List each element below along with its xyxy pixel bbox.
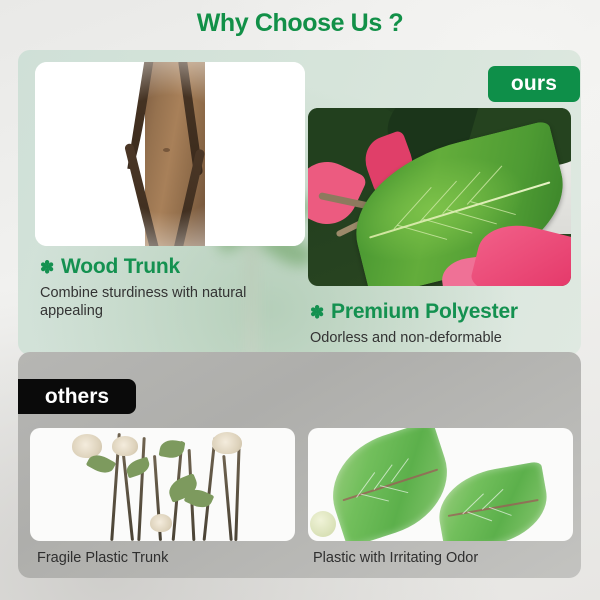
vine-strand (124, 143, 163, 246)
ours-badge: ours (488, 66, 580, 102)
ours-badge-label: ours (511, 72, 557, 96)
trunk-shape (145, 62, 205, 246)
others-caption-left: Fragile Plastic Trunk (37, 550, 168, 566)
feature-description: Odorless and non-deformable (310, 329, 580, 347)
vine-strand (178, 62, 203, 176)
flower-bullet-icon: ✽ (40, 259, 54, 276)
premium-leaf-image-card (308, 108, 571, 286)
others-caption-right: Plastic with Irritating Odor (313, 550, 478, 566)
flower-bullet-icon: ✽ (310, 304, 324, 321)
dried-flower (212, 432, 242, 454)
feature-description: Combine sturdiness with natural appealin… (40, 284, 300, 320)
wood-trunk-image-card (35, 62, 305, 246)
plastic-odor-image-card (308, 428, 573, 541)
others-badge: others (18, 379, 136, 414)
feature-heading-row: ✽ Wood Trunk (40, 255, 300, 279)
vine-strand (170, 149, 206, 246)
feature-heading: Wood Trunk (61, 255, 180, 279)
plastic-bud (310, 511, 336, 537)
trunk-knot (163, 148, 170, 152)
fragile-trunk-image-card (30, 428, 295, 541)
dried-flower (150, 514, 172, 532)
others-badge-label: others (45, 385, 109, 409)
feature-heading-row: ✽ Premium Polyester (310, 300, 580, 324)
feature-heading: Premium Polyester (331, 300, 518, 324)
page-title: Why Choose Us ? (0, 9, 600, 38)
feature-wood-trunk: ✽ Wood Trunk Combine sturdiness with nat… (40, 255, 300, 320)
plastic-leaf (432, 461, 553, 541)
dried-flower (112, 436, 138, 456)
dry-leaf (124, 457, 151, 479)
vine-strand (127, 62, 153, 170)
feature-premium-polyester: ✽ Premium Polyester Odorless and non-def… (310, 300, 580, 347)
